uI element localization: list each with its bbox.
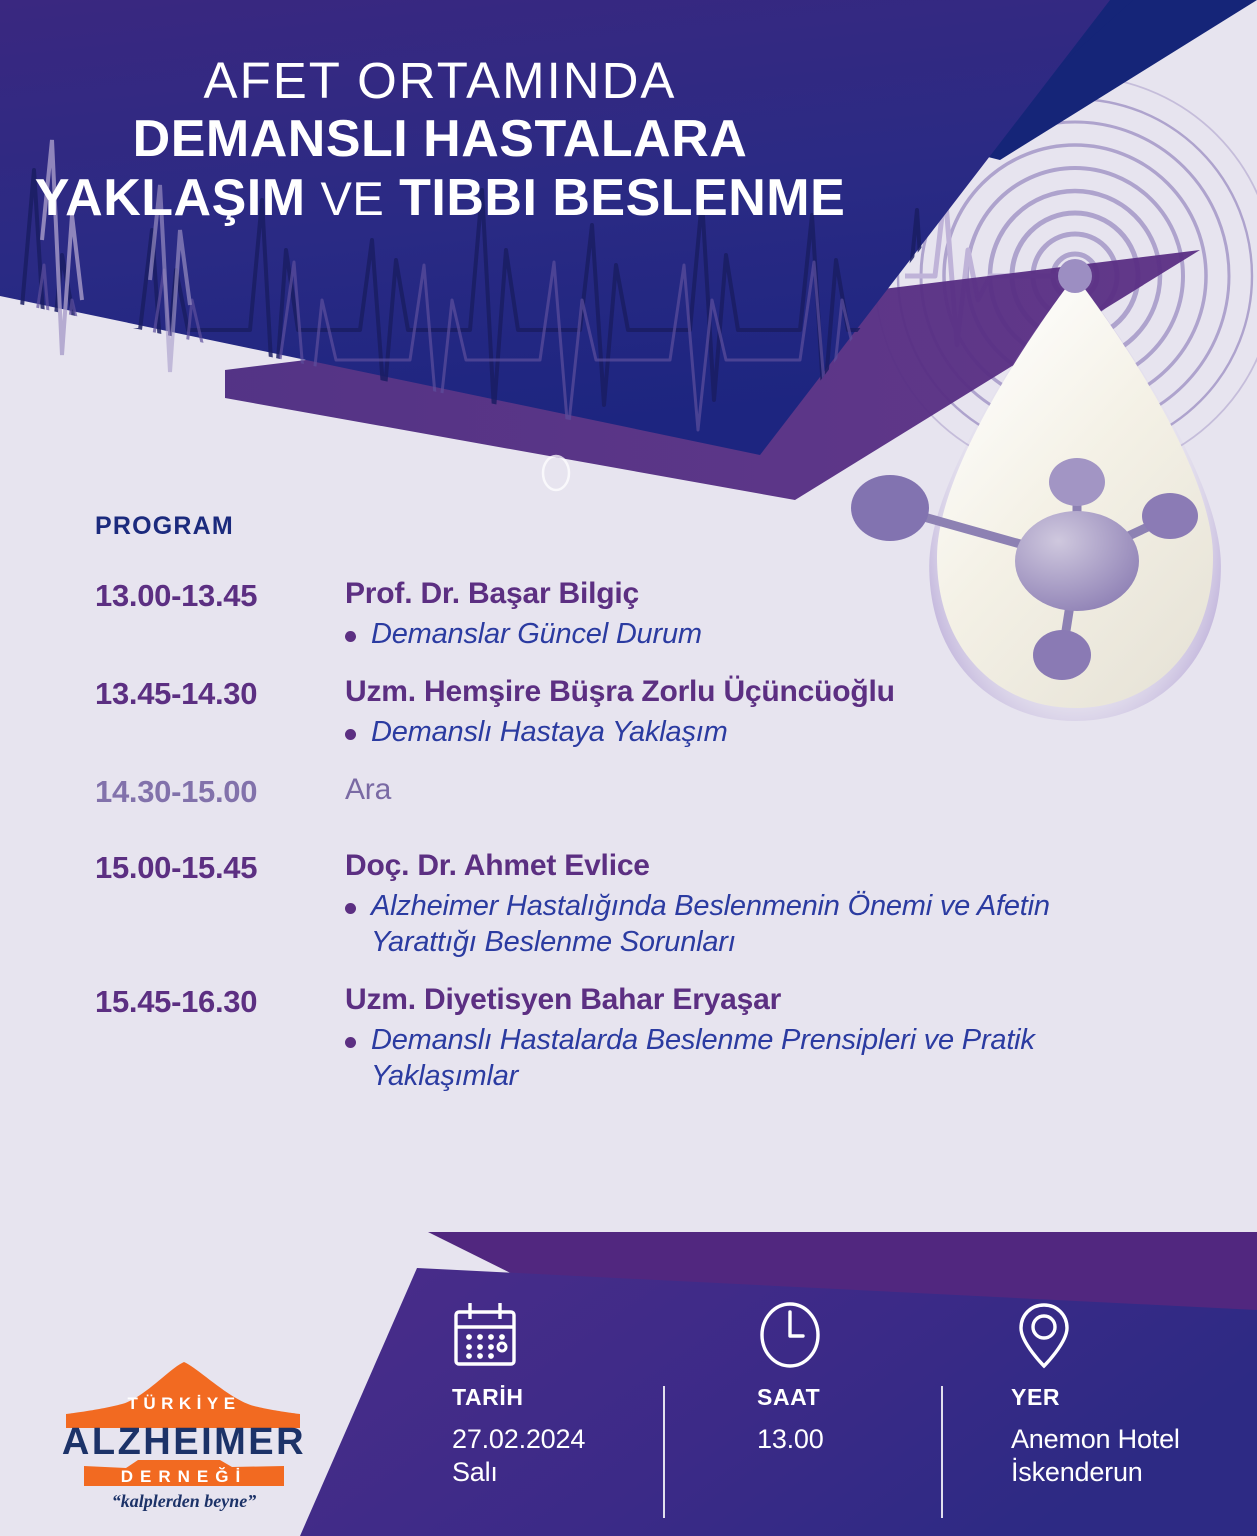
title-line-2: DEMANSLI HASTALARA: [0, 110, 880, 169]
program-row: 15.45-16.30Uzm. Diyetisyen Bahar Eryaşar…: [95, 983, 1095, 1095]
poster-title: AFET ORTAMINDA DEMANSLI HASTALARA YAKLAŞ…: [0, 52, 880, 229]
program-row-topic: Alzheimer Hastalığında Beslenmenin Önemi…: [345, 889, 1095, 961]
program-row-speaker: Uzm. Hemşire Büşra Zorlu Üçüncüoğlu: [345, 675, 1095, 709]
program-row: 13.45-14.30Uzm. Hemşire Büşra Zorlu Üçün…: [95, 675, 1095, 751]
program-row-topic: Demanslı Hastalarda Beslenme Prensipleri…: [345, 1023, 1095, 1095]
program-row: 14.30-15.00Ara: [95, 773, 1095, 813]
logo-slogan-text: “kalplerden beyne”: [112, 1491, 256, 1511]
program-row-body: Uzm. Diyetisyen Bahar EryaşarDemanslı Ha…: [345, 983, 1095, 1095]
clock-icon: [757, 1300, 824, 1374]
footer-date-value: 27.02.2024Salı: [452, 1423, 585, 1489]
program-row-time: 14.30-15.00: [95, 773, 345, 813]
program-row-speaker: Doç. Dr. Ahmet Evlice: [345, 849, 1095, 883]
location-pin-icon: [1011, 1300, 1180, 1374]
logo-turkiye-text: TÜRKİYE: [127, 1394, 240, 1413]
program-row-speaker: Ara: [345, 773, 1095, 807]
program-row: 13.00-13.45Prof. Dr. Başar BilgiçDemansl…: [95, 577, 1095, 653]
program-row-body: Doç. Dr. Ahmet EvliceAlzheimer Hastalığı…: [345, 849, 1095, 961]
program-row-body: Uzm. Hemşire Büşra Zorlu ÜçüncüoğluDeman…: [345, 675, 1095, 751]
calendar-icon: [452, 1300, 585, 1374]
footer-divider-2: [941, 1386, 943, 1518]
alzheimer-dernegi-logo: TÜRKİYE ALZHEIMER DERNEĞİ “kalplerden be…: [60, 1352, 308, 1516]
program-row-speaker: Prof. Dr. Başar Bilgiç: [345, 577, 1095, 611]
program-row-topic: Demanslar Güncel Durum: [345, 617, 1095, 653]
title-line-3: YAKLAŞIM VE TIBBI BESLENME: [0, 169, 880, 228]
program-row-body: Ara: [345, 773, 1095, 813]
logo-alzheimer-text: ALZHEIMER: [62, 1421, 306, 1463]
program-row-time: 15.00-15.45: [95, 849, 345, 961]
program-row-time: 13.00-13.45: [95, 577, 345, 653]
footer-divider-1: [663, 1386, 665, 1518]
footer-place-block: YER Anemon Hotelİskenderun: [1011, 1300, 1180, 1489]
footer-time-block: SAAT 13.00: [757, 1300, 824, 1456]
footer-place-value: Anemon Hotelİskenderun: [1011, 1423, 1180, 1489]
program-row-topic: Demanslı Hastaya Yaklaşım: [345, 715, 1095, 751]
footer-date-block: TARİH 27.02.2024Salı: [452, 1300, 585, 1489]
title-line-3-part-a: YAKLAŞIM: [35, 169, 306, 227]
molecule-atom-top: [1049, 458, 1105, 506]
title-line-3-part-b: TIBBI BESLENME: [399, 169, 845, 227]
program-row-speaker: Uzm. Diyetisyen Bahar Eryaşar: [345, 983, 1095, 1017]
program-row-time: 15.45-16.30: [95, 983, 345, 1095]
footer-place-label: YER: [1011, 1384, 1180, 1411]
ripple-center-node: [1058, 259, 1092, 293]
program-list: 13.00-13.45Prof. Dr. Başar BilgiçDemansl…: [95, 577, 1095, 1095]
molecule-atom-right: [1142, 493, 1198, 539]
program-heading: PROGRAM: [95, 512, 1095, 541]
program-row: 15.00-15.45Doç. Dr. Ahmet EvliceAlzheime…: [95, 849, 1095, 961]
footer-time-label: SAAT: [757, 1384, 824, 1411]
title-line-1: AFET ORTAMINDA: [0, 52, 880, 110]
title-line-3-ve: VE: [320, 172, 384, 225]
footer-date-label: TARİH: [452, 1384, 585, 1411]
program-row-body: Prof. Dr. Başar BilgiçDemanslar Güncel D…: [345, 577, 1095, 653]
poster-root: AFET ORTAMINDA DEMANSLI HASTALARA YAKLAŞ…: [0, 0, 1257, 1536]
program-section: PROGRAM 13.00-13.45Prof. Dr. Başar Bilgi…: [95, 512, 1095, 1117]
footer-time-value: 13.00: [757, 1423, 824, 1456]
program-row-time: 13.45-14.30: [95, 675, 345, 751]
logo-dernegi-text: DERNEĞİ: [121, 1467, 247, 1486]
